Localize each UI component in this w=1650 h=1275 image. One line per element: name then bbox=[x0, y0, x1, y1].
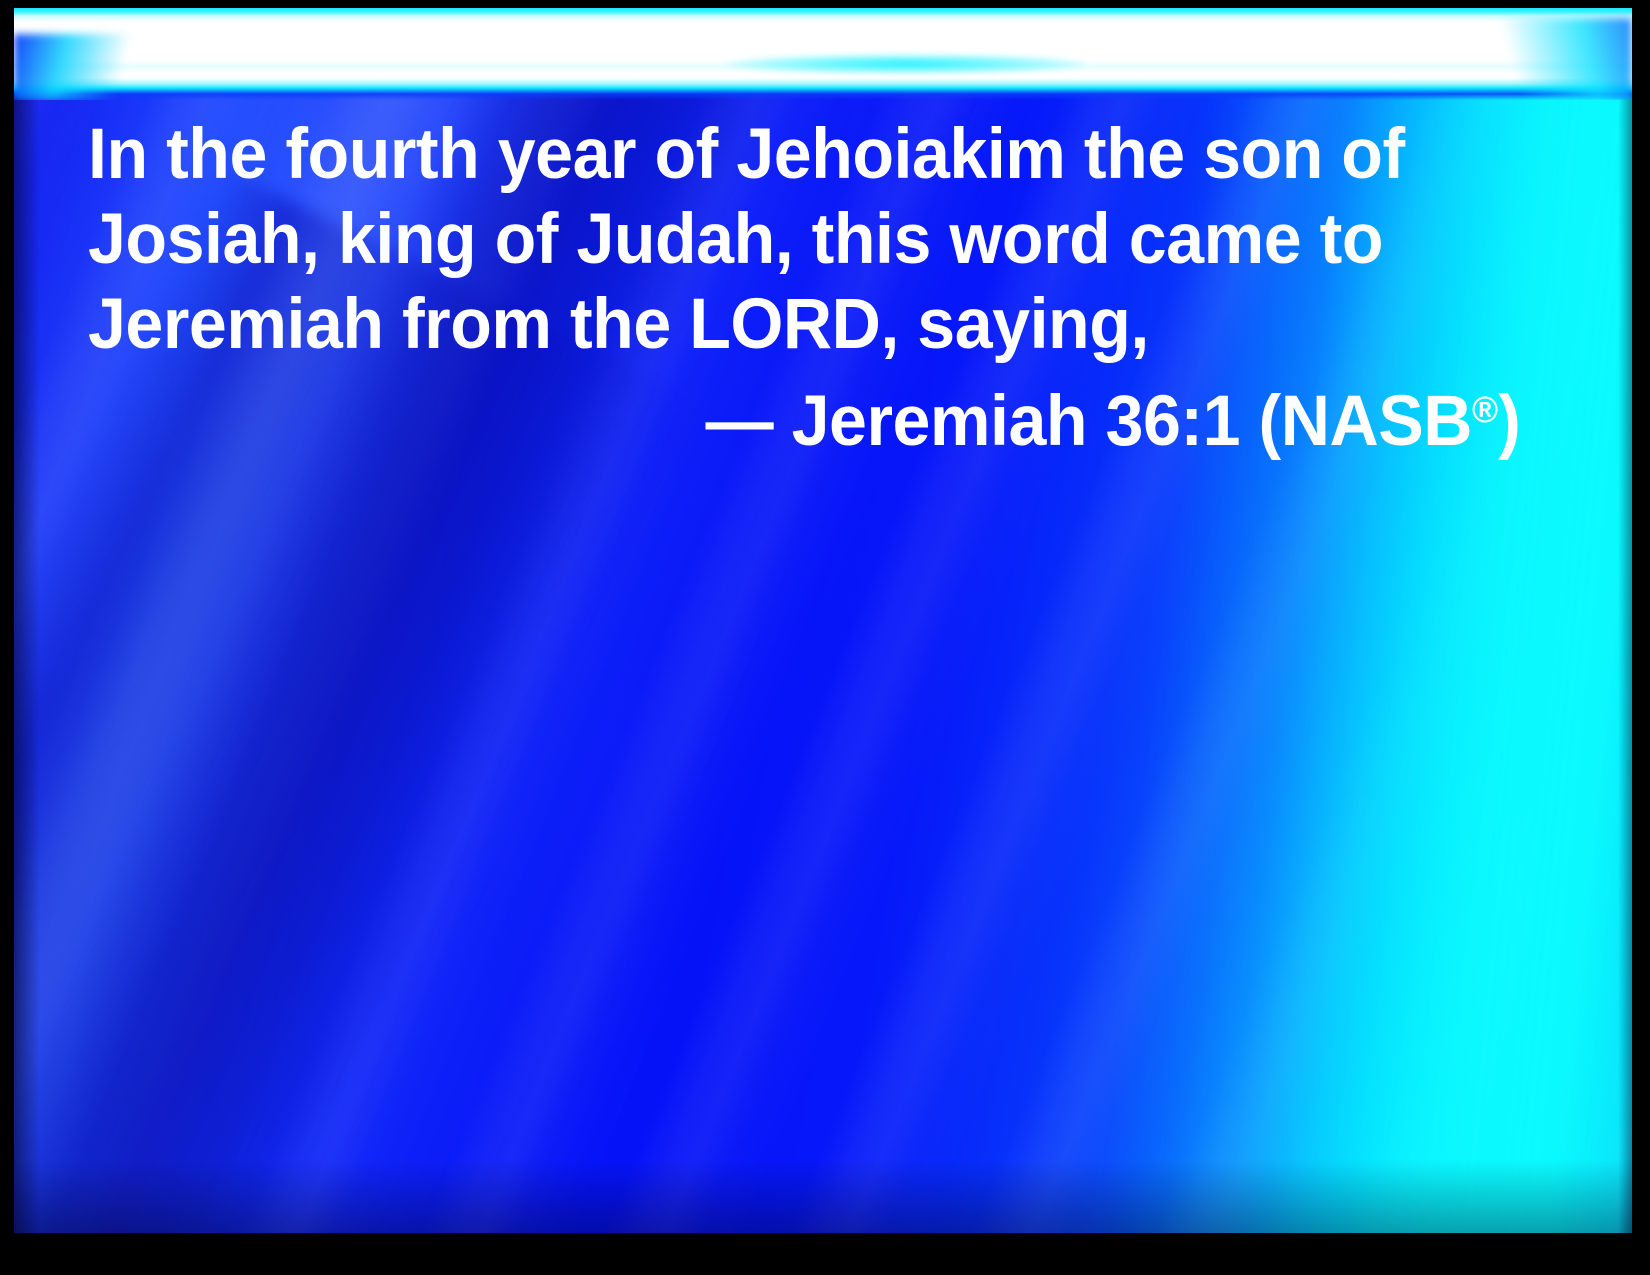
citation-spacer-3 bbox=[1240, 382, 1258, 461]
border-right bbox=[1632, 0, 1650, 1275]
verse-line-3: Jeremiah from the LORD, saying, bbox=[88, 282, 1470, 367]
registered-trademark-icon: ® bbox=[1472, 389, 1498, 430]
border-bottom bbox=[0, 1233, 1650, 1275]
citation-reference: 36:1 bbox=[1106, 382, 1241, 461]
border-left bbox=[0, 0, 14, 1275]
verse-line-2: Josiah, king of Judah, this word came to bbox=[88, 197, 1470, 282]
top-band-left-notch bbox=[14, 34, 244, 100]
verse-citation: — Jeremiah 36:1 (NASB®) bbox=[146, 367, 1528, 464]
citation-translation: NASB bbox=[1281, 382, 1472, 461]
bible-verse-slide: In the fourth year of Jehoiakim the son … bbox=[0, 0, 1650, 1275]
verse-line-1: In the fourth year of Jehoiakim the son … bbox=[88, 112, 1470, 197]
top-band-right-notch bbox=[1412, 18, 1632, 100]
top-band-cyan-blob bbox=[726, 54, 1086, 74]
citation-open-paren: ( bbox=[1259, 382, 1281, 461]
top-band-gradient bbox=[14, 8, 1632, 100]
citation-close-paren: ) bbox=[1498, 382, 1520, 461]
top-highlight-band bbox=[14, 8, 1632, 100]
citation-dash: — bbox=[705, 382, 773, 461]
citation-book: Jeremiah bbox=[792, 382, 1088, 461]
verse-text-block: In the fourth year of Jehoiakim the son … bbox=[88, 112, 1528, 464]
citation-spacer-2 bbox=[1087, 382, 1105, 461]
border-top bbox=[0, 0, 1650, 8]
citation-spacer bbox=[773, 382, 791, 461]
